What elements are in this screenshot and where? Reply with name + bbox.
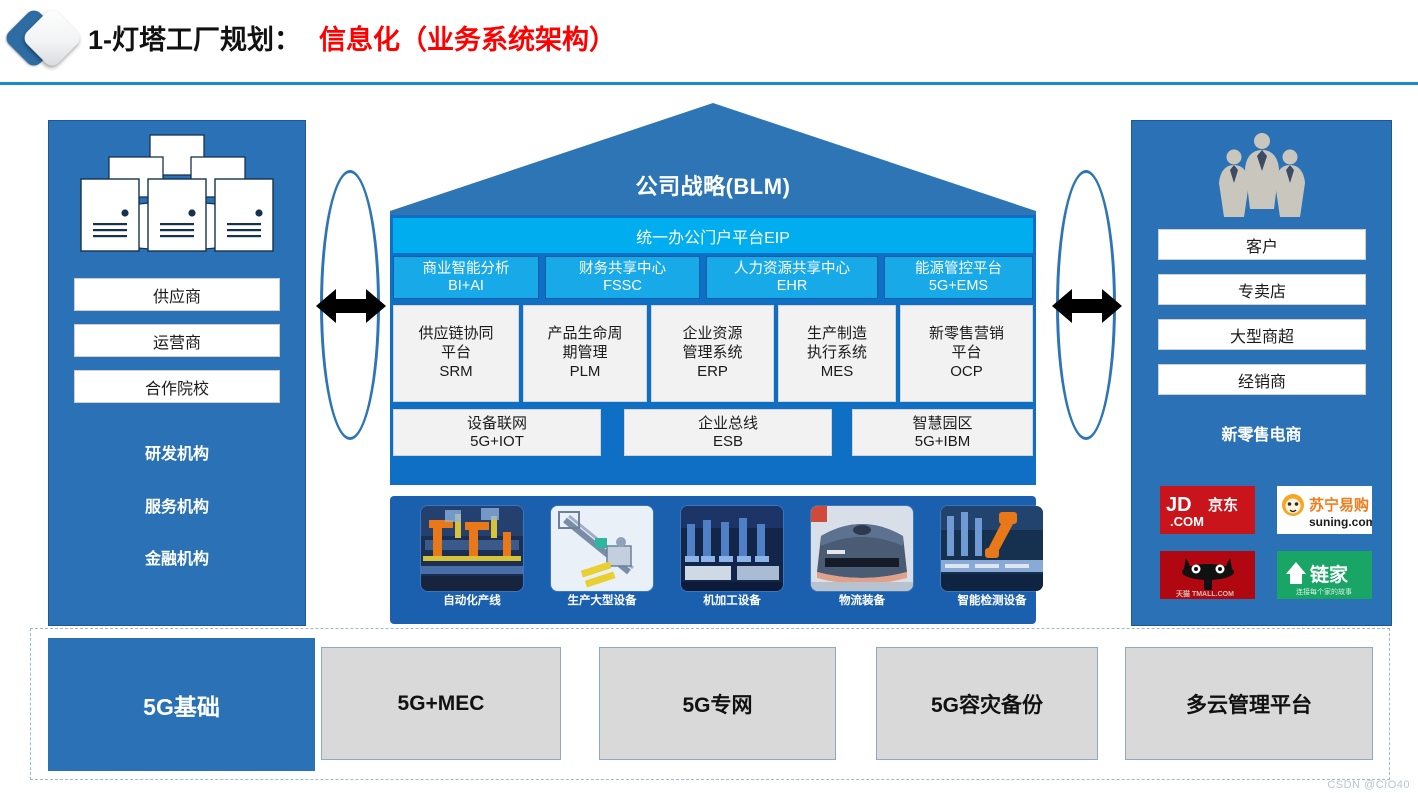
strategy-roof: 公司战略(BLM): [390, 103, 1036, 218]
left-box-1-label: 运营商: [153, 329, 201, 353]
eip-bar-label: 统一办公门户平台EIP: [636, 224, 790, 248]
servers-icon: [63, 133, 291, 255]
app-box-ems-cn: 能源管控平台: [915, 261, 1002, 277]
infrastructure-row: 设备联网 5G+IOT 企业总线 ESB 智慧园区 5G+IBM: [393, 409, 1033, 456]
left-connector: [320, 170, 382, 442]
svg-text:京东: 京东: [1208, 496, 1238, 514]
right-box-0-label: 客户: [1246, 233, 1278, 257]
core-box-erp-en: ERP: [697, 363, 728, 382]
inspection-robot-photo[interactable]: [941, 506, 1043, 591]
core-box-srm-cn1: 供应链协同: [418, 325, 493, 344]
svg-text:.COM: .COM: [1170, 514, 1204, 529]
bidirectional-arrow-icon: [1050, 285, 1124, 327]
machining-equipment-photo[interactable]: [681, 506, 783, 591]
app-box-fssc-en: FSSC: [603, 278, 642, 294]
left-box-2[interactable]: 合作院校: [74, 370, 280, 403]
core-box-ocp-cn2: 平台: [951, 344, 981, 363]
photo-caption-2: 机加工设备: [671, 592, 793, 608]
core-box-plm-cn2: 期管理: [562, 344, 607, 363]
app-box-bi-cn: 商业智能分析: [423, 261, 510, 277]
robot-assembly-line-photo[interactable]: [421, 506, 523, 591]
bottom-box-5g-dr[interactable]: 5G容灾备份: [876, 647, 1098, 760]
left-box-0[interactable]: 供应商: [74, 278, 280, 311]
left-box-2-label: 合作院校: [145, 375, 209, 399]
infra-box-iot-en: 5G+IOT: [470, 433, 524, 451]
app-box-bi-en: BI+AI: [448, 278, 484, 294]
right-box-2-label: 大型商超: [1230, 323, 1294, 347]
diamond-logo-icon: [8, 8, 80, 70]
bottom-box-5g-private[interactable]: 5G专网: [599, 647, 836, 760]
eip-bar[interactable]: 统一办公门户平台EIP: [393, 218, 1033, 253]
core-box-srm[interactable]: 供应链协同 平台 SRM: [393, 305, 519, 402]
photo-caption-0: 自动化产线: [411, 592, 533, 608]
app-box-ehr-cn: 人力资源共享中心: [734, 261, 850, 277]
5g-base-label: 5G基础: [143, 688, 220, 722]
left-label-1: 服务机构: [49, 493, 305, 517]
5g-infrastructure-row: 5G基础 5G+MEC 5G专网 5G容灾备份 多云管理平台: [30, 628, 1390, 780]
core-box-mes-cn1: 生产制造: [807, 325, 867, 344]
core-box-ocp[interactable]: 新零售营销 平台 OCP: [900, 305, 1033, 402]
left-stakeholder-panel: 供应商 运营商 合作院校 研发机构 服务机构 金融机构: [48, 120, 306, 626]
agv-logistics-photo[interactable]: [811, 506, 913, 591]
svg-text:苏宁易购: 苏宁易购: [1309, 496, 1369, 514]
page-title-main: 1-灯塔工厂规划：: [88, 25, 301, 55]
core-box-erp-cn2: 管理系统: [682, 344, 742, 363]
equipment-photo-strip: 自动化产线 生产大型设备 机加工设备 物流装备 智能检测设备: [390, 496, 1036, 624]
bottom-box-5g-dr-label: 5G容灾备份: [931, 689, 1043, 719]
core-box-plm[interactable]: 产品生命周 期管理 PLM: [523, 305, 647, 402]
center-architecture-stack: 统一办公门户平台EIP 商业智能分析 BI+AI 财务共享中心 FSSC 人力资…: [390, 215, 1036, 485]
left-label-0: 研发机构: [49, 440, 305, 464]
infra-box-esb-cn: 企业总线: [698, 415, 758, 433]
core-box-mes[interactable]: 生产制造 执行系统 MES: [778, 305, 896, 402]
infra-box-esb[interactable]: 企业总线 ESB: [624, 409, 832, 456]
bottom-box-5g-mec-label: 5G+MEC: [398, 692, 485, 716]
right-box-0[interactable]: 客户: [1158, 229, 1366, 260]
right-connector: [1056, 170, 1118, 442]
infra-box-iot[interactable]: 设备联网 5G+IOT: [393, 409, 601, 456]
slide-canvas: 1-灯塔工厂规划：信息化（业务系统架构） 供应商 运营商 合作院校 研发机构 服…: [0, 0, 1418, 793]
svg-text:链家: 链家: [1310, 563, 1349, 586]
bottom-box-multicloud-label: 多云管理平台: [1186, 689, 1312, 719]
right-box-1[interactable]: 专卖店: [1158, 274, 1366, 305]
infra-box-esb-en: ESB: [713, 433, 743, 451]
app-box-fssc-cn: 财务共享中心: [579, 261, 666, 277]
photo-caption-1: 生产大型设备: [541, 592, 663, 608]
svg-text:suning.com: suning.com: [1309, 515, 1372, 529]
app-box-ehr-en: EHR: [777, 278, 808, 294]
slide-header: 1-灯塔工厂规划：信息化（业务系统架构）: [0, 0, 1418, 82]
watermark: CSDN @CIO40: [1327, 779, 1410, 791]
left-box-1[interactable]: 运营商: [74, 324, 280, 357]
core-box-erp[interactable]: 企业资源 管理系统 ERP: [651, 305, 774, 402]
right-box-3[interactable]: 经销商: [1158, 364, 1366, 395]
right-customer-panel: 客户 专卖店 大型商超 经销商 新零售电商 JD .COM 京东: [1131, 120, 1392, 626]
large-production-equipment-photo[interactable]: [551, 506, 653, 591]
lianjia-logo[interactable]: 链家 连接每个家的故事: [1277, 551, 1372, 599]
core-box-mes-cn2: 执行系统: [807, 344, 867, 363]
jd-logo[interactable]: JD .COM 京东: [1160, 486, 1255, 534]
svg-text:天猫 TMALL.COM: 天猫 TMALL.COM: [1176, 589, 1234, 598]
bottom-box-multicloud[interactable]: 多云管理平台: [1125, 647, 1373, 760]
core-box-srm-cn2: 平台: [441, 344, 471, 363]
infra-box-ibm[interactable]: 智慧园区 5G+IBM: [852, 409, 1033, 456]
core-box-erp-cn1: 企业资源: [682, 325, 742, 344]
svg-text:JD: JD: [1166, 494, 1192, 516]
app-box-bi[interactable]: 商业智能分析 BI+AI: [393, 256, 539, 299]
right-box-1-label: 专卖店: [1238, 278, 1286, 302]
infra-box-iot-cn: 设备联网: [467, 415, 527, 433]
app-box-fssc[interactable]: 财务共享中心 FSSC: [545, 256, 700, 299]
infra-box-ibm-cn: 智慧园区: [912, 415, 972, 433]
app-box-ehr[interactable]: 人力资源共享中心 EHR: [706, 256, 878, 299]
suning-logo[interactable]: 苏宁易购 suning.com: [1277, 486, 1372, 534]
header-divider: [0, 82, 1418, 85]
core-box-srm-en: SRM: [439, 363, 472, 382]
page-title-accent: 信息化（业务系统架构）: [319, 25, 616, 55]
core-box-plm-en: PLM: [570, 363, 601, 382]
svg-text:连接每个家的故事: 连接每个家的故事: [1296, 587, 1352, 596]
bottom-box-5g-mec[interactable]: 5G+MEC: [321, 647, 561, 760]
strategy-roof-label: 公司战略(BLM): [390, 169, 1036, 201]
infra-box-ibm-en: 5G+IBM: [915, 433, 970, 451]
core-box-ocp-cn1: 新零售营销: [929, 325, 1004, 344]
app-box-ems-en: 5G+EMS: [929, 278, 988, 294]
photo-caption-4: 智能检测设备: [931, 592, 1053, 608]
core-systems-row: 供应链协同 平台 SRM 产品生命周 期管理 PLM 企业资源 管理系统 ERP…: [393, 305, 1033, 402]
bidirectional-arrow-icon: [314, 285, 388, 327]
left-label-2: 金融机构: [49, 545, 305, 569]
right-box-2[interactable]: 大型商超: [1158, 319, 1366, 350]
people-group-icon: [1212, 131, 1312, 221]
core-box-mes-en: MES: [821, 363, 854, 382]
shared-platform-row: 商业智能分析 BI+AI 财务共享中心 FSSC 人力资源共享中心 EHR 能源…: [393, 256, 1033, 299]
new-retail-section-title: 新零售电商: [1132, 421, 1391, 445]
core-box-ocp-en: OCP: [950, 363, 983, 382]
5g-base-block[interactable]: 5G基础: [48, 638, 315, 771]
core-box-plm-cn1: 产品生命周: [547, 325, 622, 344]
page-title: 1-灯塔工厂规划：信息化（业务系统架构）: [88, 18, 616, 57]
right-box-3-label: 经销商: [1238, 368, 1286, 392]
photo-caption-3: 物流装备: [801, 592, 923, 608]
app-box-ems[interactable]: 能源管控平台 5G+EMS: [884, 256, 1033, 299]
tmall-logo[interactable]: 天猫 TMALL.COM: [1160, 551, 1255, 599]
bottom-box-5g-private-label: 5G专网: [682, 689, 752, 719]
left-box-0-label: 供应商: [153, 283, 201, 307]
